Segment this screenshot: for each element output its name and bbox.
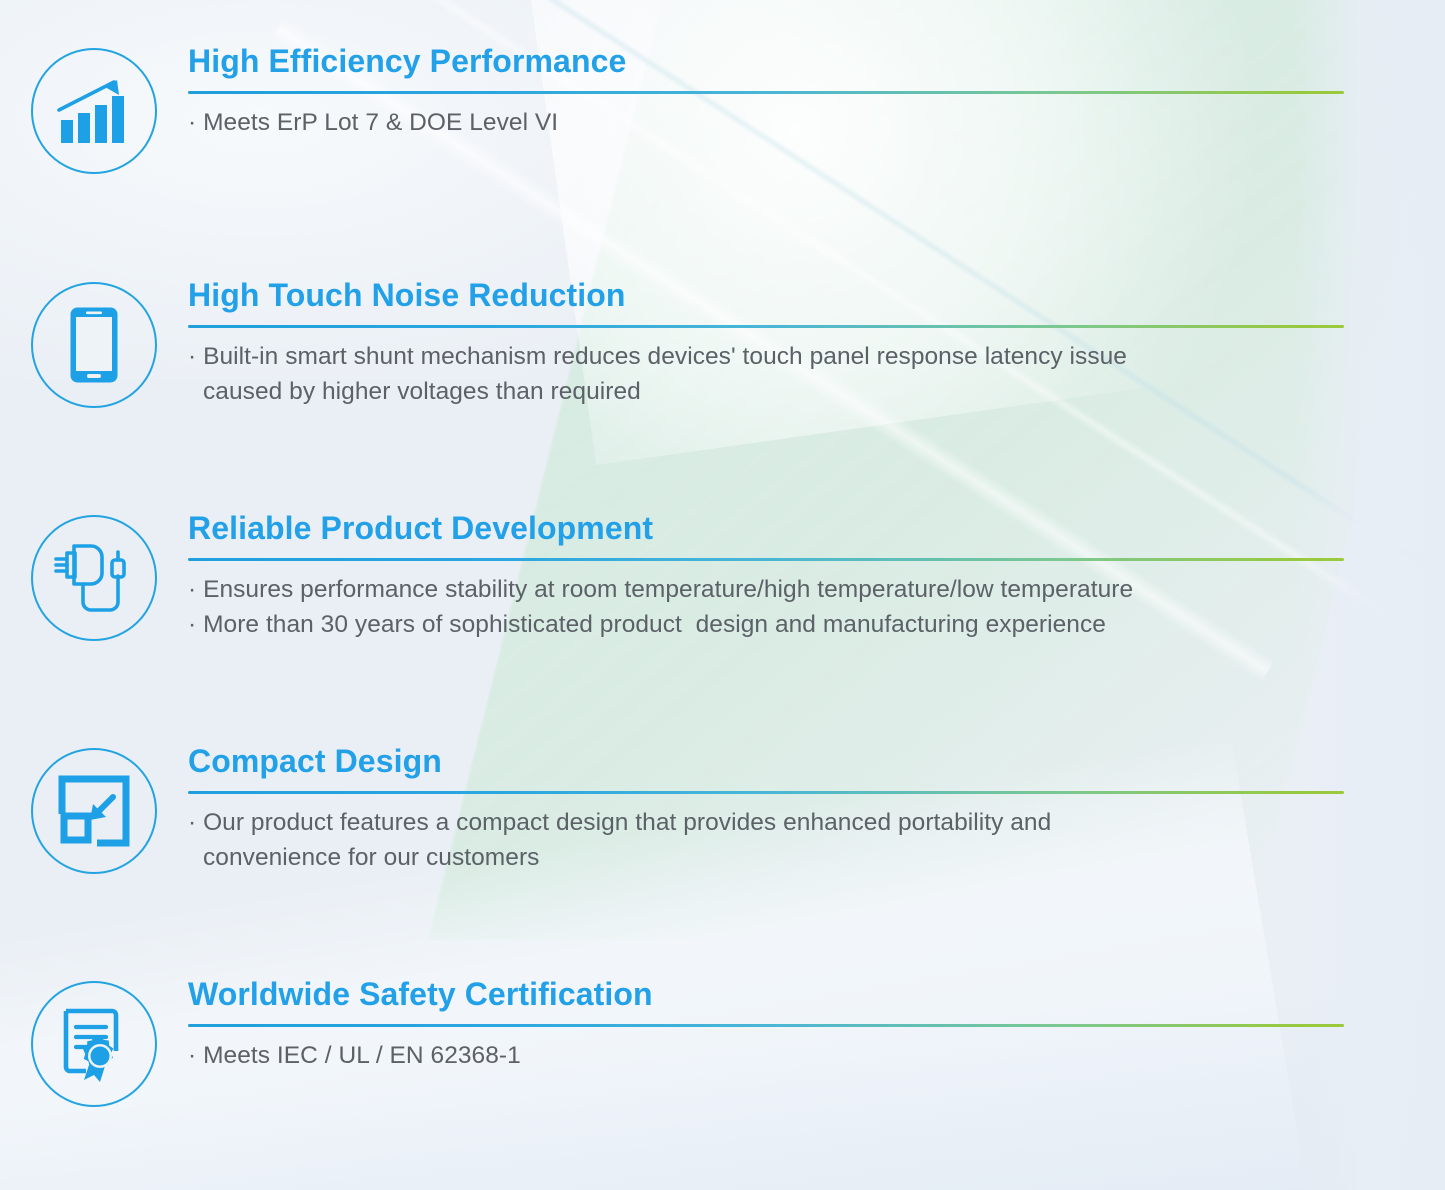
feature-divider bbox=[188, 558, 1344, 561]
feature-bullet: convenience for our customers bbox=[188, 840, 1367, 875]
feature-bullet: · Built-in smart shunt mechanism reduces… bbox=[188, 339, 1367, 374]
feature-title: Reliable Product Development bbox=[188, 511, 1367, 547]
feature-icon-wrap bbox=[0, 511, 188, 641]
feature-bullets: · Meets IEC / UL / EN 62368-1 bbox=[188, 1038, 1367, 1073]
compact-resize-icon bbox=[31, 748, 157, 874]
bar-chart-growth-icon bbox=[31, 48, 157, 174]
feature-title: Compact Design bbox=[188, 744, 1367, 780]
feature-body: Reliable Product Development · Ensures p… bbox=[188, 511, 1445, 642]
feature-icon-wrap bbox=[0, 278, 188, 408]
feature-body: High Efficiency Performance · Meets ErP … bbox=[188, 44, 1445, 140]
feature-item-worldwide-safety-certification: Worldwide Safety Certification · Meets I… bbox=[0, 977, 1445, 1107]
power-adapter-icon bbox=[31, 515, 157, 641]
feature-bullets: · Built-in smart shunt mechanism reduces… bbox=[188, 339, 1367, 409]
feature-highlights-page: High Efficiency Performance · Meets ErP … bbox=[0, 0, 1445, 1190]
feature-item-reliable-product-development: Reliable Product Development · Ensures p… bbox=[0, 511, 1445, 642]
feature-icon-wrap bbox=[0, 744, 188, 874]
feature-body: High Touch Noise Reduction · Built-in sm… bbox=[188, 278, 1445, 409]
feature-item-high-touch-noise-reduction: High Touch Noise Reduction · Built-in sm… bbox=[0, 278, 1445, 409]
feature-divider bbox=[188, 325, 1344, 328]
feature-bullet: caused by higher voltages than required bbox=[188, 374, 1367, 409]
feature-body: Compact Design · Our product features a … bbox=[188, 744, 1445, 875]
feature-bullets: · Our product features a compact design … bbox=[188, 805, 1367, 875]
smartphone-icon bbox=[31, 282, 157, 408]
feature-item-high-efficiency-performance: High Efficiency Performance · Meets ErP … bbox=[0, 44, 1445, 174]
feature-bullet: · More than 30 years of sophisticated pr… bbox=[188, 607, 1367, 642]
feature-divider bbox=[188, 791, 1344, 794]
feature-icon-wrap bbox=[0, 977, 188, 1107]
feature-divider bbox=[188, 1024, 1344, 1027]
feature-item-compact-design: Compact Design · Our product features a … bbox=[0, 744, 1445, 875]
feature-bullet: · Our product features a compact design … bbox=[188, 805, 1367, 840]
feature-bullets: · Ensures performance stability at room … bbox=[188, 572, 1367, 642]
feature-title: High Efficiency Performance bbox=[188, 44, 1367, 80]
feature-bullet: · Meets ErP Lot 7 & DOE Level VI bbox=[188, 105, 1367, 140]
feature-bullets: · Meets ErP Lot 7 & DOE Level VI bbox=[188, 105, 1367, 140]
feature-icon-wrap bbox=[0, 44, 188, 174]
feature-divider bbox=[188, 91, 1344, 94]
feature-bullet: · Meets IEC / UL / EN 62368-1 bbox=[188, 1038, 1367, 1073]
feature-title: High Touch Noise Reduction bbox=[188, 278, 1367, 314]
certificate-award-icon bbox=[31, 981, 157, 1107]
feature-bullet: · Ensures performance stability at room … bbox=[188, 572, 1367, 607]
feature-title: Worldwide Safety Certification bbox=[188, 977, 1367, 1013]
feature-body: Worldwide Safety Certification · Meets I… bbox=[188, 977, 1445, 1073]
